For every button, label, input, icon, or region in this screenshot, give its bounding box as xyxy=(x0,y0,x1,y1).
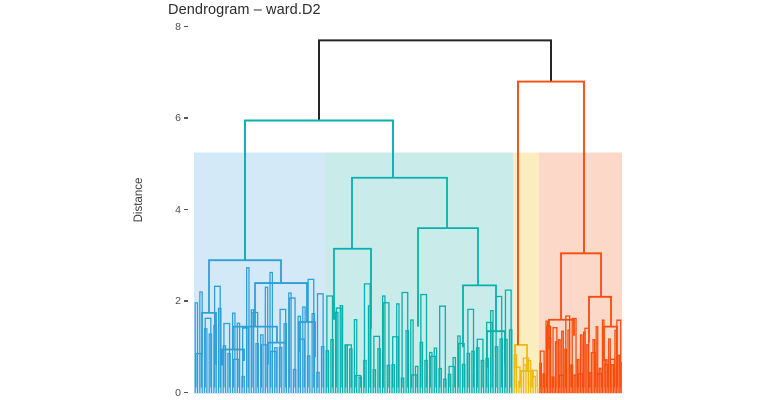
cluster-band-cluster-2 xyxy=(325,153,513,394)
dendrogram-chart: Dendrogram – ward.D2 Distance 02468 xyxy=(0,0,770,400)
top-link-root xyxy=(319,40,551,120)
dendrogram-canvas xyxy=(0,0,770,400)
